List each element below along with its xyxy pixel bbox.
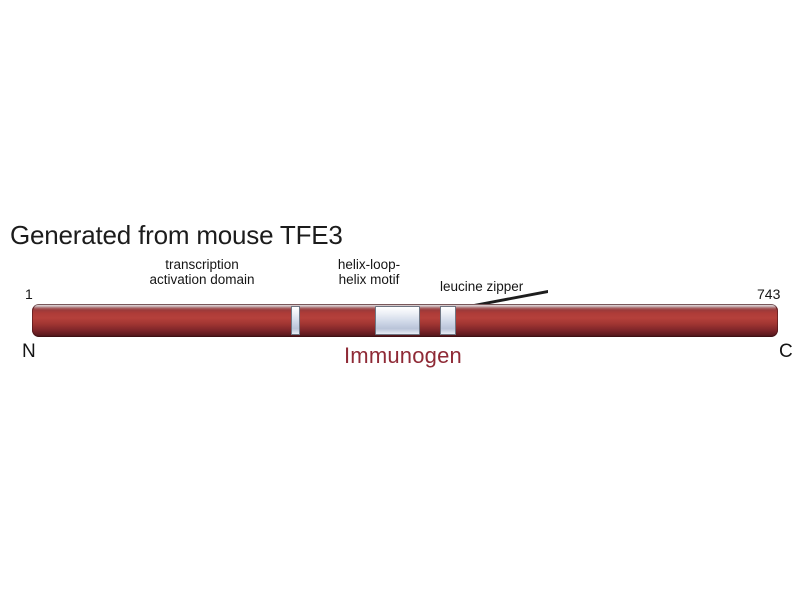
domain-box-transcription-activation-domain	[291, 306, 300, 335]
page-title: Generated from mouse TFE3	[10, 220, 343, 251]
domain-label-transcription-activation-domain: transcription activation domain	[112, 257, 292, 287]
protein-domain-diagram: Generated from mouse TFE3 transcription …	[0, 0, 800, 600]
domain-label-line2: activation domain	[112, 272, 292, 287]
protein-backbone-bar	[32, 304, 778, 337]
domain-label-line1: helix-loop-	[304, 257, 434, 272]
domain-label-line1: leucine zipper	[440, 279, 580, 294]
domain-box-leucine-zipper	[440, 306, 456, 335]
domain-box-helix-loop-helix-motif	[375, 306, 420, 335]
end-residue-number: 743	[757, 286, 780, 302]
start-residue-number: 1	[25, 286, 33, 302]
domain-label-helix-loop-helix-motif: helix-loop- helix motif	[304, 257, 434, 287]
domain-label-leucine-zipper: leucine zipper	[440, 279, 580, 294]
immunogen-caption: Immunogen	[0, 343, 800, 369]
immunogen-caption-text: Immunogen	[344, 343, 462, 368]
domain-label-line1: transcription	[112, 257, 292, 272]
domain-label-line2: helix motif	[304, 272, 434, 287]
